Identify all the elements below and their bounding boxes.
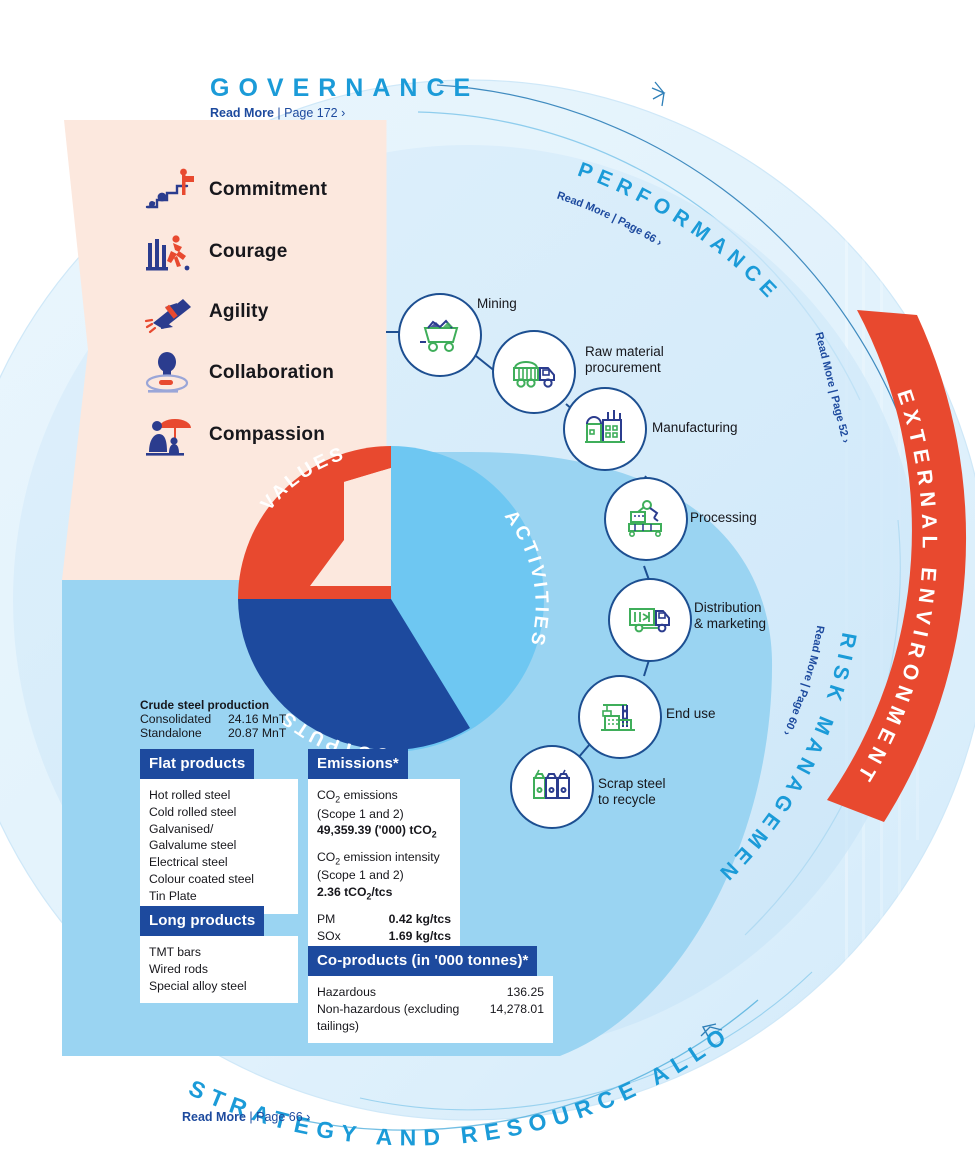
delivery-truck-icon <box>626 599 674 642</box>
list-item: Wired rods <box>149 961 289 978</box>
activity-label-end-use: End use <box>666 706 716 722</box>
co2-intensity-label-line1: CO2 emission intensity <box>317 849 451 868</box>
co-products-title: Co-products (in '000 tonnes)* <box>308 946 537 976</box>
activity-label-processing: Processing <box>690 510 757 526</box>
row-label: Hazardous <box>317 984 376 1001</box>
emission-row: SOx 1.69 kg/tcs <box>317 928 451 945</box>
infographic-canvas: VALUES OUTPUTS ACTIVITIES PERFORMANCE Re… <box>0 0 975 1176</box>
crude-steel-row: Consolidated 24.16 MnT <box>140 712 286 726</box>
activity-label-raw-material-procurement: Raw material procurement <box>585 344 664 376</box>
activity-label-line1: Distribution <box>694 600 766 616</box>
long-products-list: TMT bars Wired rods Special alloy steel <box>140 936 298 1003</box>
long-products-title: Long products <box>140 906 264 936</box>
co2-emissions-label-line1: CO2 emissions <box>317 787 451 806</box>
crude-steel-row: Standalone 20.87 MnT <box>140 726 286 740</box>
activity-node-raw-material-procurement[interactable] <box>492 330 576 414</box>
list-item: Galvalume steel <box>149 837 289 854</box>
activity-label-line2: procurement <box>585 360 664 376</box>
activity-label-manufacturing: Manufacturing <box>652 420 738 436</box>
row-label: PM <box>317 911 335 928</box>
list-item: TMT bars <box>149 944 289 961</box>
row-label: Standalone <box>140 726 228 740</box>
activity-node-end-use[interactable] <box>578 675 662 759</box>
activity-label-line2: & marketing <box>694 616 766 632</box>
row-value: 1.69 kg/tcs <box>389 928 451 945</box>
flat-products-list: Hot rolled steel Cold rolled steel Galva… <box>140 779 298 914</box>
co-product-row: Non-hazardous (excluding tailings) 14,27… <box>317 1001 544 1035</box>
row-value: 20.87 MnT <box>228 726 286 740</box>
activity-node-processing[interactable] <box>604 477 688 561</box>
crude-steel-title: Crude steel production <box>140 698 286 712</box>
activity-node-mining[interactable] <box>398 293 482 377</box>
row-value: 0.42 kg/tcs <box>389 911 451 928</box>
co2-emissions-label-line2: (Scope 1 and 2) <box>317 806 451 823</box>
row-label: Consolidated <box>140 712 228 726</box>
co2-intensity-label-line2: (Scope 1 and 2) <box>317 867 451 884</box>
row-value: 14,278.01 <box>490 1001 544 1035</box>
mining-cart-icon <box>417 312 463 359</box>
co-product-row: Hazardous 136.25 <box>317 984 544 1001</box>
co2-intensity-value: 2.36 tCO2/tcs <box>317 884 451 903</box>
activity-label-line1: Scrap steel <box>598 776 666 792</box>
row-value: 24.16 MnT <box>228 712 286 726</box>
activity-label-mining: Mining <box>477 296 517 312</box>
list-item: Special alloy steel <box>149 978 289 995</box>
factory-icon <box>582 406 628 453</box>
activity-node-scrap-steel-to-recycle[interactable] <box>510 745 594 829</box>
co2-emissions-value: 49,359.39 ('000) tCO2 <box>317 822 451 841</box>
list-item: Galvanised/ <box>149 821 289 838</box>
flat-products-card: Flat products Hot rolled steel Cold roll… <box>140 749 298 914</box>
robot-arm-icon <box>623 496 669 543</box>
crude-steel-production: Crude steel production Consolidated 24.1… <box>140 698 286 740</box>
row-value: 136.25 <box>507 984 544 1001</box>
list-item: Colour coated steel <box>149 871 289 888</box>
activity-label-line2: to recycle <box>598 792 666 808</box>
activity-label-distribution-marketing: Distribution & marketing <box>694 600 766 632</box>
emissions-title: Emissions* <box>308 749 408 779</box>
list-item: Tin Plate <box>149 888 289 905</box>
flat-products-title: Flat products <box>140 749 254 779</box>
list-item: Electrical steel <box>149 854 289 871</box>
row-label: SOx <box>317 928 341 945</box>
long-products-card: Long products TMT bars Wired rods Specia… <box>140 906 298 1003</box>
activity-label-scrap-steel: Scrap steel to recycle <box>598 776 666 808</box>
row-label: Non-hazardous (excluding tailings) <box>317 1001 490 1035</box>
co-products-card: Co-products (in '000 tonnes)* Hazardous … <box>308 946 553 1043</box>
emission-row: PM 0.42 kg/tcs <box>317 911 451 928</box>
activity-label-line1: Raw material <box>585 344 664 360</box>
emissions-body: CO2 emissions (Scope 1 and 2) 49,359.39 … <box>308 779 460 970</box>
co-products-body: Hazardous 136.25 Non-hazardous (excludin… <box>308 976 553 1043</box>
emissions-card: Emissions* CO2 emissions (Scope 1 and 2)… <box>308 749 460 970</box>
list-item: Hot rolled steel <box>149 787 289 804</box>
activity-node-distribution-marketing[interactable] <box>608 578 692 662</box>
list-item: Cold rolled steel <box>149 804 289 821</box>
dump-truck-icon <box>510 350 558 395</box>
activity-node-manufacturing[interactable] <box>563 387 647 471</box>
construction-icon <box>597 693 643 742</box>
recycle-bins-icon <box>529 764 575 811</box>
